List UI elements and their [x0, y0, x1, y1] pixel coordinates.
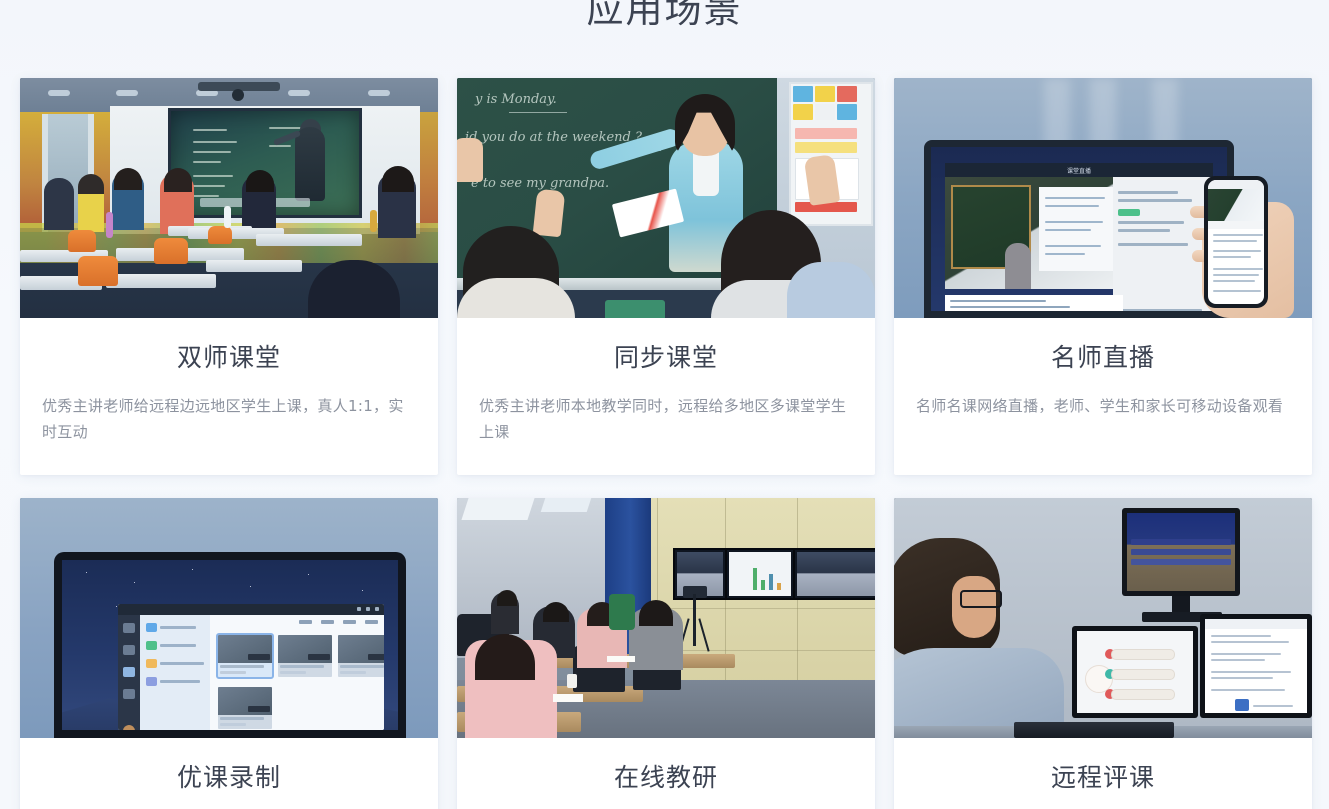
card-title: 优课录制 [42, 761, 416, 795]
skylight [541, 498, 592, 512]
scenario-card-synchronous-classroom[interactable]: y is Monday. id you do at the weekend ? … [457, 78, 875, 475]
card-image-dual-teacher-classroom [20, 78, 438, 318]
recording-app-window [118, 604, 384, 730]
window-title-bar[interactable] [118, 604, 384, 615]
remote-teacher-body [295, 127, 325, 201]
card-text-synchronous-classroom: 同步课堂 优秀主讲老师本地教学同时，远程给多地区多课堂学生上课 [457, 318, 875, 475]
window-controls[interactable] [357, 607, 379, 611]
recording-thumbnail[interactable] [338, 635, 384, 677]
recording-thumbnail[interactable] [278, 635, 332, 677]
live-video-area [945, 177, 1123, 289]
scenario-card-lesson-recording[interactable]: 优课录制 [20, 498, 438, 809]
laptop-device [54, 552, 406, 738]
app-title-bar: 课堂直播 [945, 163, 1213, 177]
classroom-video-feed [1127, 513, 1235, 591]
recording-list[interactable] [210, 615, 384, 730]
top-monitor [1122, 508, 1240, 596]
card-title: 远程评课 [916, 761, 1290, 795]
conference-room-illustration [457, 498, 875, 738]
card-text-expert-livestream: 名师直播 名师名课网络直播，老师、学生和家长可移动设备观看 [894, 318, 1312, 449]
list-toolbar[interactable] [299, 620, 378, 624]
card-description: 名师名课网络直播，老师、学生和家长可移动设备观看 [916, 393, 1290, 419]
glasses-icon [960, 590, 1002, 608]
evaluation-app [1077, 631, 1193, 713]
card-image-remote-review [894, 498, 1312, 738]
video-wall-screen-right [793, 548, 875, 600]
card-text-online-research: 在线教研 [457, 738, 875, 809]
course-metadata [945, 295, 1123, 311]
card-title: 名师直播 [916, 341, 1290, 375]
recording-thumbnail[interactable] [218, 687, 272, 729]
card-title: 在线教研 [479, 761, 853, 795]
keyboard [1014, 722, 1174, 738]
scenario-card-grid: 双师课堂 优秀主讲老师给远程边远地区学生上课，真人1:1，实时互动 y is M… [20, 78, 1312, 809]
card-title: 同步课堂 [479, 341, 853, 375]
right-monitor [1200, 614, 1312, 718]
scenario-card-dual-teacher-classroom[interactable]: 双师课堂 优秀主讲老师给远程边远地区学生上课，真人1:1，实时互动 [20, 78, 438, 475]
card-description: 优秀主讲老师本地教学同时，远程给多地区多课堂学生上课 [479, 393, 853, 445]
app-sidebar[interactable] [118, 615, 140, 730]
video-wall-screen-center [725, 548, 795, 600]
chat-panel [1113, 177, 1213, 311]
laptop-screen: 课堂直播 [931, 147, 1227, 311]
card-text-lesson-recording: 优课录制 [20, 738, 438, 809]
recording-thumbnail[interactable] [218, 635, 272, 677]
laptop-device: 课堂直播 [924, 140, 1234, 318]
desktop-wallpaper [62, 560, 398, 730]
mobile-phone-device [1204, 176, 1268, 308]
document-editor [1205, 619, 1307, 713]
card-title: 双师课堂 [42, 341, 416, 375]
raised-hand-center [533, 189, 566, 238]
livestream-devices-illustration: 课堂直播 [894, 78, 1312, 318]
card-image-online-research [457, 498, 875, 738]
phone-screen [1208, 180, 1264, 304]
folder-tree[interactable] [140, 615, 210, 730]
card-text-remote-review: 远程评课 [894, 738, 1312, 809]
card-image-lesson-recording [20, 498, 438, 738]
camera-tripod [693, 594, 696, 646]
center-monitor [1072, 626, 1198, 718]
scenario-card-online-research[interactable]: 在线教研 [457, 498, 875, 809]
raised-hand-left [457, 138, 483, 182]
card-image-synchronous-classroom: y is Monday. id you do at the weekend ? … [457, 78, 875, 318]
page-title: 应用场景 [0, 0, 1329, 38]
card-text-dual-teacher-classroom: 双师课堂 优秀主讲老师给远程边远地区学生上课，真人1:1，实时互动 [20, 318, 438, 475]
wall-calendar-chart [789, 82, 873, 226]
application-scenarios-page: 应用场景 [0, 0, 1329, 809]
card-image-expert-livestream: 课堂直播 [894, 78, 1312, 318]
workstation-illustration [894, 498, 1312, 738]
classroom-illustration [20, 78, 438, 318]
recording-software-illustration [20, 498, 438, 738]
card-description: 优秀主讲老师给远程边远地区学生上课，真人1:1，实时互动 [42, 393, 416, 445]
skylight [461, 498, 534, 520]
scenario-card-remote-review[interactable]: 远程评课 [894, 498, 1312, 809]
blackboard-classroom-illustration: y is Monday. id you do at the weekend ? … [457, 78, 875, 318]
camera-lens-icon [232, 89, 244, 101]
scenario-card-expert-livestream[interactable]: 课堂直播 [894, 78, 1312, 475]
